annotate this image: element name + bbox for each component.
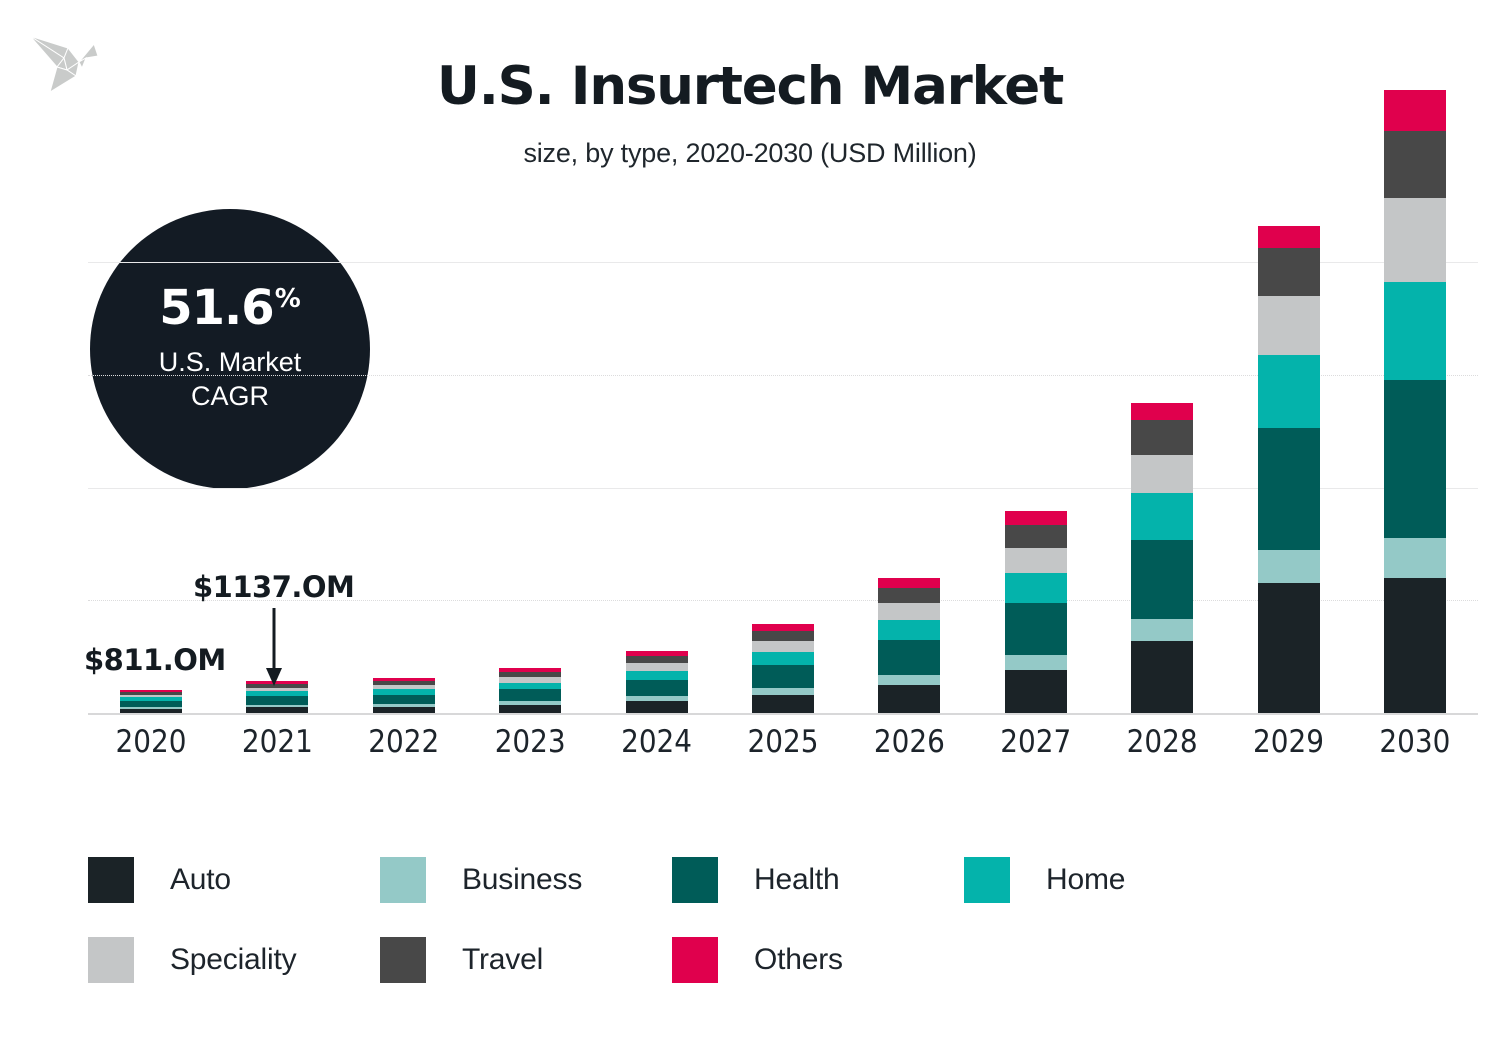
bar-segment-home[interactable] [878, 620, 940, 640]
x-axis-labels: 2020202120222023202420252026202720282029… [88, 724, 1478, 774]
legend-label-speciality: Speciality [170, 943, 296, 977]
bar-column-2023[interactable] [467, 80, 593, 713]
bar-segment-home[interactable] [1131, 493, 1193, 540]
bar-segment-speciality[interactable] [752, 641, 814, 652]
legend-item-health[interactable]: Health [672, 840, 964, 920]
bar-segment-others[interactable] [1258, 226, 1320, 248]
bar-segment-speciality[interactable] [1384, 198, 1446, 282]
legend-swatch-others [672, 937, 718, 983]
legend-swatch-business [380, 857, 426, 903]
bar-segment-others[interactable] [878, 578, 940, 588]
bar-segment-health[interactable] [1005, 603, 1067, 655]
bar-segment-speciality[interactable] [1005, 548, 1067, 573]
legend-swatch-travel [380, 937, 426, 983]
bar-segment-auto[interactable] [1131, 641, 1193, 713]
bar-column-2027[interactable] [973, 80, 1099, 713]
bar-segment-health[interactable] [499, 689, 561, 701]
bar-stack[interactable] [120, 690, 182, 713]
bar-segment-home[interactable] [1384, 282, 1446, 380]
annotation-value-2021: $1137.OM [193, 570, 354, 604]
bar-segment-home[interactable] [752, 652, 814, 666]
bar-segment-others[interactable] [1005, 511, 1067, 525]
bar-segment-auto[interactable] [499, 705, 561, 713]
bar-segment-business[interactable] [1005, 655, 1067, 670]
legend-item-travel[interactable]: Travel [380, 920, 672, 1000]
legend-swatch-health [672, 857, 718, 903]
bar-segment-auto[interactable] [1258, 583, 1320, 713]
bar-segment-speciality[interactable] [1258, 296, 1320, 355]
legend-swatch-speciality [88, 937, 134, 983]
bar-segment-travel[interactable] [752, 631, 814, 641]
bar-stack[interactable] [1258, 226, 1320, 713]
bar-segment-travel[interactable] [626, 656, 688, 663]
bar-column-2024[interactable] [594, 80, 720, 713]
bar-stack[interactable] [1131, 403, 1193, 713]
bar-stack[interactable] [878, 578, 940, 713]
legend-label-travel: Travel [462, 943, 543, 977]
bar-column-2025[interactable] [720, 80, 846, 713]
bar-column-2026[interactable] [846, 80, 972, 713]
legend-swatch-auto [88, 857, 134, 903]
legend-label-others: Others [754, 943, 843, 977]
bar-segment-health[interactable] [626, 680, 688, 696]
bar-column-2028[interactable] [1099, 80, 1225, 713]
bar-segment-health[interactable] [1258, 428, 1320, 550]
x-axis-tick-2029: 2029 [1226, 724, 1352, 774]
x-axis-tick-2026: 2026 [846, 724, 972, 774]
legend-label-auto: Auto [170, 863, 231, 897]
bar-segment-health[interactable] [752, 665, 814, 688]
bar-stack[interactable] [373, 678, 435, 713]
bar-segment-speciality[interactable] [626, 663, 688, 671]
x-axis-tick-2030: 2030 [1352, 724, 1478, 774]
legend-item-auto[interactable]: Auto [88, 840, 380, 920]
bar-segment-others[interactable] [752, 624, 814, 631]
x-axis-tick-2025: 2025 [720, 724, 846, 774]
bar-segment-health[interactable] [878, 640, 940, 675]
annotation-value-2020: $811.OM [84, 643, 226, 677]
bar-segment-travel[interactable] [1384, 131, 1446, 198]
x-axis-line [88, 713, 1478, 715]
bar-segment-home[interactable] [1258, 355, 1320, 428]
bar-segment-auto[interactable] [752, 695, 814, 713]
legend-item-business[interactable]: Business [380, 840, 672, 920]
x-axis-tick-2024: 2024 [594, 724, 720, 774]
bar-segment-travel[interactable] [1258, 248, 1320, 296]
legend-label-health: Health [754, 863, 840, 897]
bar-segment-business[interactable] [1131, 619, 1193, 641]
chart-legend: AutoBusinessHealthHomeSpecialityTravelOt… [88, 840, 1488, 1000]
bar-column-2022[interactable] [341, 80, 467, 713]
legend-item-speciality[interactable]: Speciality [88, 920, 380, 1000]
bar-stack[interactable] [499, 668, 561, 713]
x-axis-tick-2028: 2028 [1099, 724, 1225, 774]
bar-stack[interactable] [1384, 90, 1446, 713]
legend-swatch-home [964, 857, 1010, 903]
bar-series-group [88, 80, 1478, 713]
bar-segment-others[interactable] [1131, 403, 1193, 419]
legend-item-home[interactable]: Home [964, 840, 1256, 920]
legend-item-others[interactable]: Others [672, 920, 964, 1000]
bar-segment-business[interactable] [878, 675, 940, 685]
bar-segment-travel[interactable] [878, 588, 940, 603]
bar-column-2029[interactable] [1226, 80, 1352, 713]
legend-label-business: Business [462, 863, 582, 897]
bar-segment-auto[interactable] [1005, 670, 1067, 713]
bar-stack[interactable] [1005, 511, 1067, 713]
x-axis-tick-2020: 2020 [88, 724, 214, 774]
bar-segment-health[interactable] [373, 695, 435, 704]
bar-segment-health[interactable] [246, 696, 308, 704]
bar-segment-home[interactable] [1005, 573, 1067, 604]
bar-column-2020[interactable] [88, 80, 214, 713]
bar-stack[interactable] [626, 651, 688, 713]
bar-segment-auto[interactable] [626, 701, 688, 713]
bar-segment-home[interactable] [499, 683, 561, 690]
bar-segment-auto[interactable] [1384, 578, 1446, 713]
bar-segment-speciality[interactable] [878, 603, 940, 619]
x-axis-tick-2021: 2021 [214, 724, 340, 774]
bar-segment-business[interactable] [752, 688, 814, 695]
bar-segment-business[interactable] [1384, 538, 1446, 578]
bar-segment-others[interactable] [1384, 90, 1446, 131]
bar-segment-speciality[interactable] [1131, 455, 1193, 493]
bar-segment-auto[interactable] [878, 685, 940, 713]
bar-segment-business[interactable] [1258, 550, 1320, 583]
bar-segment-health[interactable] [1131, 540, 1193, 619]
down-arrow-icon [262, 608, 286, 686]
legend-label-home: Home [1046, 863, 1125, 897]
bar-column-2030[interactable] [1352, 80, 1478, 713]
bar-segment-travel[interactable] [1131, 420, 1193, 455]
bar-segment-health[interactable] [1384, 380, 1446, 538]
x-axis-tick-2027: 2027 [973, 724, 1099, 774]
bar-stack[interactable] [752, 624, 814, 713]
bar-segment-home[interactable] [626, 671, 688, 680]
x-axis-tick-2023: 2023 [467, 724, 593, 774]
bar-segment-travel[interactable] [1005, 525, 1067, 548]
x-axis-tick-2022: 2022 [341, 724, 467, 774]
